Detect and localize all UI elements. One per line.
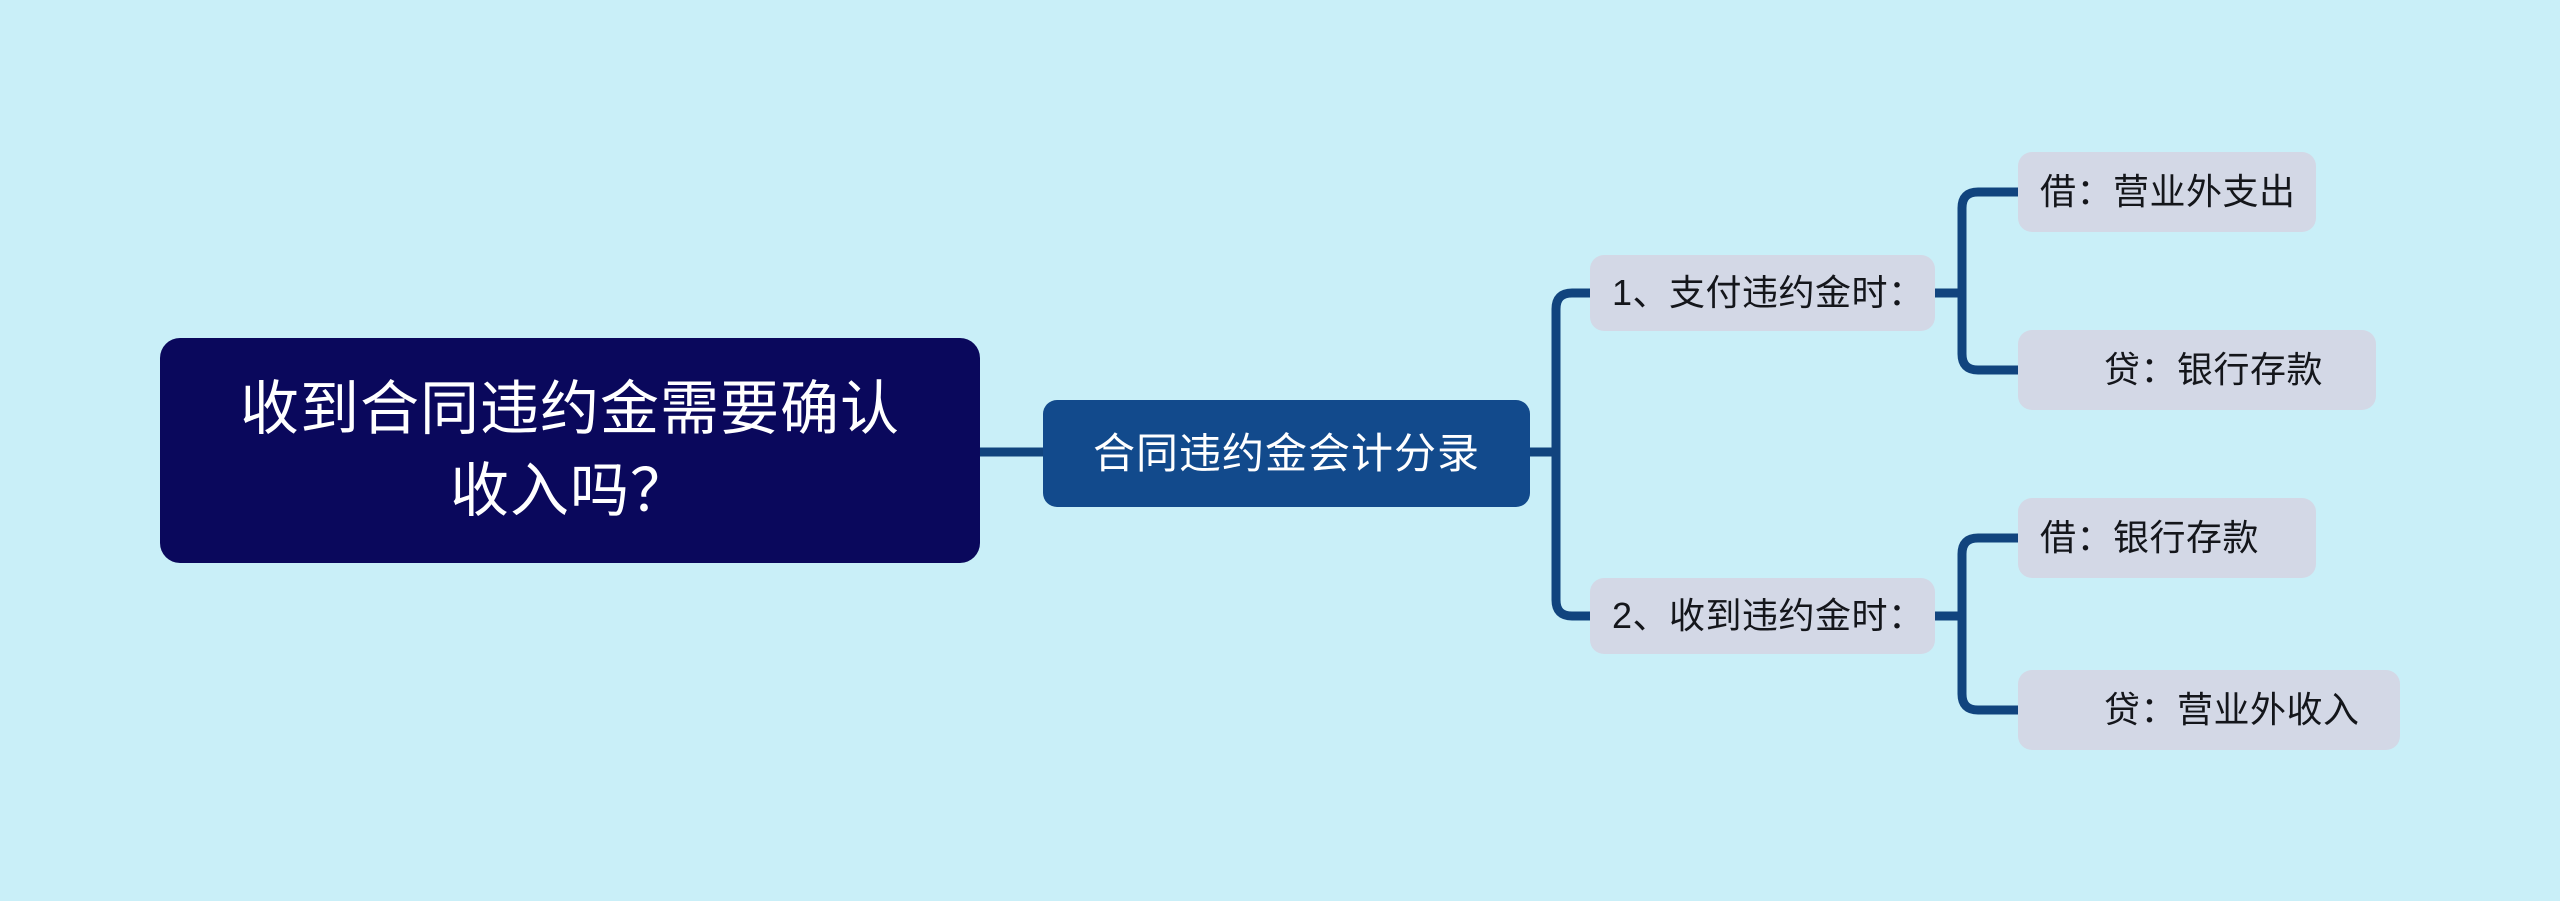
connector-branch-to-step-2 (1530, 452, 1590, 616)
connector-step-2-to-leaf-4 (1935, 616, 2018, 710)
step-node-label: 2、收到违约金时： (1612, 591, 1925, 641)
mindmap-canvas: 收到合同违约金需要确认 收入吗？ 合同违约金会计分录 1、支付违约金时： 2、收… (0, 0, 2560, 901)
connector-step-2-to-leaf-3 (1935, 538, 2018, 616)
entry-node-debit-non-operating-expense[interactable]: 借：营业外支出 (2018, 152, 2316, 232)
step-node-pay-penalty[interactable]: 1、支付违约金时： (1590, 255, 1935, 331)
root-node[interactable]: 收到合同违约金需要确认 收入吗？ (160, 338, 980, 563)
entry-node-credit-bank-deposit[interactable]: 贷：银行存款 (2018, 330, 2376, 410)
entry-node-label: 借：银行存款 (2040, 513, 2259, 563)
entry-node-credit-non-operating-income[interactable]: 贷：营业外收入 (2018, 670, 2400, 750)
step-node-receive-penalty[interactable]: 2、收到违约金时： (1590, 578, 1935, 654)
branch-node-label: 合同违约金会计分录 (1093, 425, 1480, 483)
root-node-line-2: 收入吗？ (450, 451, 690, 532)
entry-node-label: 借：营业外支出 (2040, 167, 2296, 217)
branch-node-accounting-entries[interactable]: 合同违约金会计分录 (1043, 400, 1530, 507)
step-node-label: 1、支付违约金时： (1612, 268, 1925, 318)
root-node-line-1: 收到合同违约金需要确认 (240, 369, 900, 450)
connector-branch-to-step-1 (1530, 293, 1590, 452)
entry-node-label: 贷：银行存款 (2104, 345, 2323, 395)
connector-step-1-to-leaf-1 (1935, 192, 2018, 293)
entry-node-label: 贷：营业外收入 (2104, 685, 2360, 735)
connector-step-1-to-leaf-2 (1935, 293, 2018, 370)
entry-node-debit-bank-deposit[interactable]: 借：银行存款 (2018, 498, 2316, 578)
